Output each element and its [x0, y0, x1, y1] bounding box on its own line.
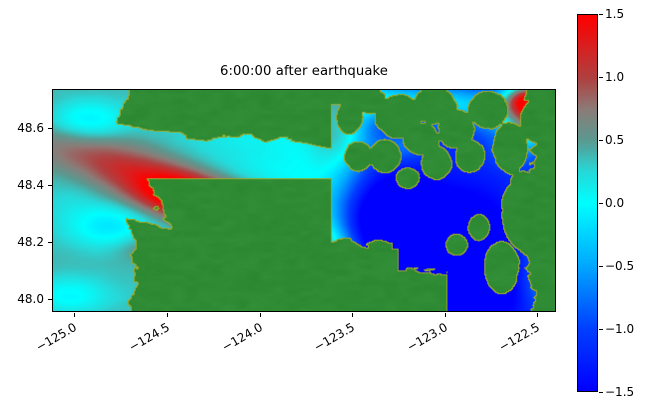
- colorbar-tick-label: −1.5: [605, 385, 634, 399]
- y-tick-label: 48.4: [0, 178, 44, 192]
- y-tick-mark: [48, 128, 52, 129]
- colorbar-tick-label: −1.0: [605, 322, 634, 336]
- colorbar-tick-label: 0.5: [605, 133, 624, 147]
- x-tick-mark: [260, 313, 261, 317]
- y-tick-mark: [48, 242, 52, 243]
- colorbar-tick-label: 1.5: [605, 7, 624, 21]
- colorbar-tick-label: −0.5: [605, 259, 634, 273]
- x-tick-label: −123.5: [298, 320, 357, 362]
- colorbar-tick-mark: [599, 14, 603, 15]
- y-tick-mark: [48, 185, 52, 186]
- y-tick-label: 48.6: [0, 121, 44, 135]
- x-tick-label: −125.0: [20, 320, 79, 362]
- y-tick-mark: [48, 299, 52, 300]
- colorbar-tick-mark: [599, 329, 603, 330]
- colorbar-tick-mark: [599, 266, 603, 267]
- x-tick-mark: [352, 313, 353, 317]
- colorbar-tick-label: 0.0: [605, 196, 624, 210]
- x-tick-mark: [537, 313, 538, 317]
- y-tick-label: 48.2: [0, 235, 44, 249]
- matplotlib-figure: 6:00:00 after earthquake 48.048.248.448.…: [0, 0, 649, 411]
- x-tick-mark: [74, 313, 75, 317]
- colorbar-tick-mark: [599, 77, 603, 78]
- x-tick-label: −123.0: [391, 320, 450, 362]
- colorbar-gradient: [578, 15, 597, 391]
- x-tick-mark: [167, 313, 168, 317]
- x-tick-label: −124.0: [206, 320, 265, 362]
- page-title: 6:00:00 after earthquake: [52, 64, 556, 79]
- x-tick-label: −124.5: [113, 320, 172, 362]
- x-tick-label: −122.5: [484, 320, 543, 362]
- x-tick-mark: [445, 313, 446, 317]
- colorbar-tick-mark: [599, 203, 603, 204]
- colorbar-tick-label: 1.0: [605, 70, 624, 84]
- map-axes[interactable]: [52, 89, 556, 312]
- colorbar-tick-mark: [599, 392, 603, 393]
- colorbar-tick-mark: [599, 140, 603, 141]
- heatmap-canvas: [53, 90, 555, 311]
- y-tick-label: 48.0: [0, 292, 44, 306]
- colorbar[interactable]: [577, 14, 598, 392]
